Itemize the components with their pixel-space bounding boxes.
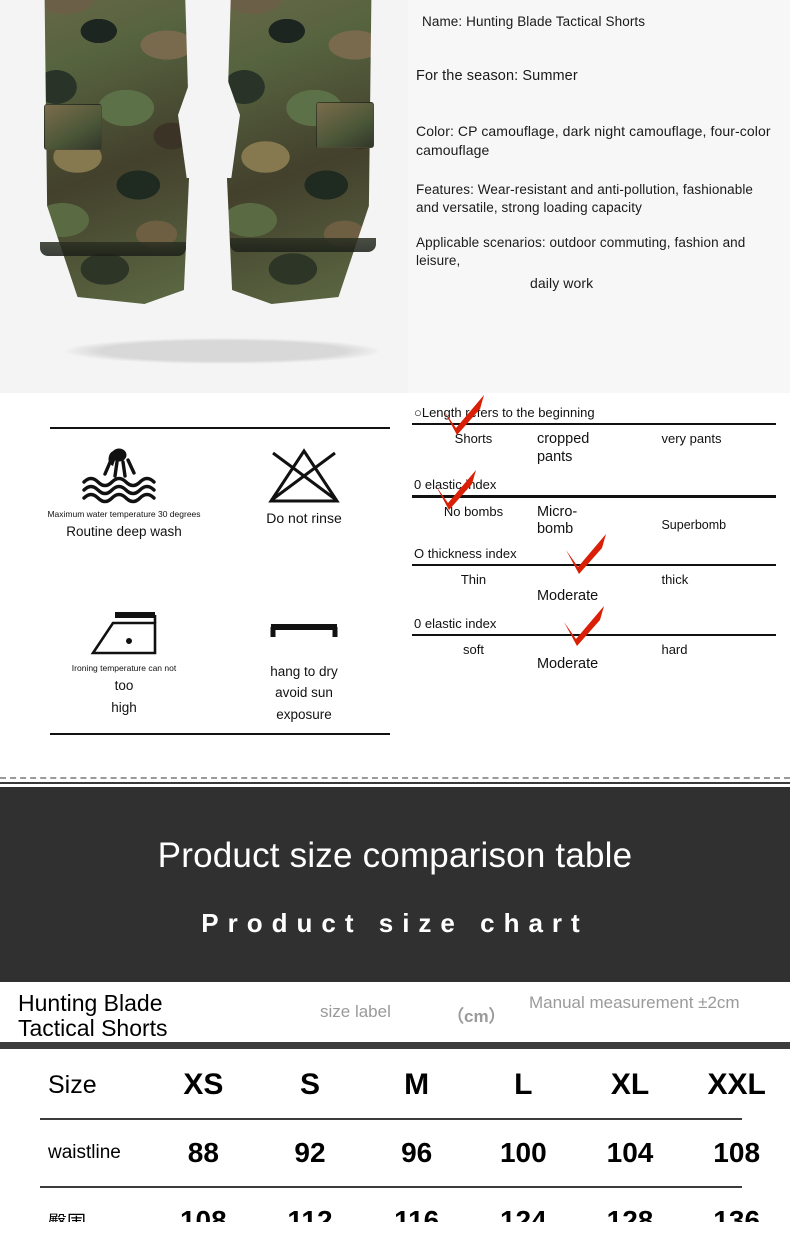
iron-low-heat-icon — [34, 597, 214, 659]
waistline-xl: 104 — [577, 1137, 684, 1169]
attributes-panel: ○Length refers to the beginning Shorts c… — [408, 393, 790, 775]
care-sub-iron: Ironing temperature can not — [34, 663, 214, 673]
manual-measurement-note: Manual measurement ±2cm — [529, 994, 790, 1013]
care-sub-wash: Maximum water temperature 30 degrees — [34, 509, 214, 519]
care-main-dry-3: exposure — [214, 707, 394, 723]
hip-l: 124 — [470, 1205, 577, 1222]
hand-wash-icon — [34, 443, 214, 505]
attr-row-length: Shorts cropped pants very pants — [412, 425, 776, 469]
size-header-l: L — [470, 1068, 577, 1102]
attr-option-hard[interactable]: hard — [655, 642, 776, 658]
shorts-left-leg — [38, 0, 190, 304]
attr-option-superbomb[interactable]: Superbomb — [655, 518, 719, 533]
attr-row-thickness: Thin Moderate thick — [412, 566, 776, 610]
size-table-row-hip-clipped: 臀围 108 112 116 124 128 136 — [0, 1188, 790, 1222]
hip-s: 112 — [257, 1205, 364, 1222]
size-header-s: S — [257, 1068, 364, 1102]
row-label-hip: 臀围 — [0, 1208, 150, 1223]
desc-daily-work: daily work — [530, 274, 774, 293]
banner-title: Product size comparison table — [158, 836, 633, 876]
product-description-panel: Name: Hunting Blade Tactical Shorts For … — [408, 0, 790, 393]
hang-to-dry-icon — [214, 597, 394, 659]
attr-heading-elastic-1: 0 elastic index — [414, 477, 776, 493]
care-item-wash: Maximum water temperature 30 degrees Rou… — [34, 437, 214, 591]
attr-option-soft[interactable]: soft — [412, 642, 535, 658]
care-main-no-rinse: Do not rinse — [214, 510, 394, 527]
care-main-iron-2: high — [34, 700, 214, 716]
waistline-l: 100 — [470, 1137, 577, 1169]
desc-name: Name: Hunting Blade Tactical Shorts — [422, 13, 774, 31]
attr-option-moderate-softness[interactable]: Moderate — [535, 656, 597, 673]
attr-heading-thickness: O thickness index — [414, 546, 776, 562]
care-main-dry-2: avoid sun — [214, 685, 394, 701]
care-and-attributes-section: Maximum water temperature 30 degrees Rou… — [0, 393, 790, 775]
size-table-row-waistline: waistline 88 92 96 100 104 108 — [0, 1120, 790, 1186]
shorts-right-leg — [226, 0, 378, 304]
attr-option-cropped-pants[interactable]: cropped pants — [535, 431, 613, 466]
size-table-row-hip: 臀围 108 112 116 124 128 136 — [0, 1188, 790, 1222]
care-main-wash: Routine deep wash — [34, 524, 214, 540]
waistline-s: 92 — [257, 1137, 364, 1169]
hip-xs: 108 — [150, 1205, 257, 1222]
size-chart-title: Hunting Blade Tactical Shorts — [18, 991, 168, 1041]
care-main-dry-1: hang to dry — [214, 664, 394, 680]
unit-text: （cm） — [447, 1002, 506, 1027]
hip-m: 116 — [363, 1205, 470, 1222]
desc-season: For the season: Summer — [416, 67, 774, 86]
attr-option-thin[interactable]: Thin — [412, 572, 535, 588]
desc-scenarios: Applicable scenarios: outdoor commuting,… — [416, 234, 774, 270]
hip-xl: 128 — [577, 1205, 684, 1222]
product-hero-section: Name: Hunting Blade Tactical Shorts For … — [0, 0, 790, 393]
attr-option-shorts[interactable]: Shorts — [412, 431, 535, 447]
attr-option-moderate-thickness[interactable]: Moderate — [535, 588, 595, 605]
attr-option-very-pants[interactable]: very pants — [655, 431, 776, 447]
size-table-header-row: Size XS S M L XL XXL — [0, 1052, 790, 1118]
attr-heading-elastic-2: 0 elastic index — [414, 616, 776, 632]
cargo-pocket-left — [44, 104, 102, 150]
desc-features: Features: Wear-resistant and anti-pollut… — [416, 181, 774, 217]
attr-option-no-bombs[interactable]: No bombs — [412, 504, 535, 520]
dashed-line — [0, 777, 790, 779]
shorts-cuff-left — [40, 242, 186, 256]
attr-row-elastic: No bombs Micro-bomb Superbomb — [412, 498, 776, 542]
size-chart-section: Hunting Blade Tactical Shorts size label… — [0, 982, 790, 1249]
size-chart-title-line2: Tactical Shorts — [18, 1015, 168, 1041]
size-header-xxl: XXL — [683, 1068, 790, 1102]
care-instructions-panel: Maximum water temperature 30 degrees Rou… — [0, 393, 408, 775]
care-item-hang-dry: hang to dry avoid sun exposure — [214, 591, 394, 745]
waistline-xs: 88 — [150, 1137, 257, 1169]
camouflage-shorts-image — [38, 0, 378, 314]
care-main-iron-1: too — [34, 678, 214, 694]
row-label-waistline: waistline — [0, 1142, 150, 1164]
section-separator — [0, 775, 790, 787]
size-chart-title-line1: Hunting Blade — [18, 990, 163, 1016]
banner-subtitle: Product size chart — [201, 908, 588, 939]
size-label-text: size label — [320, 1002, 391, 1022]
care-item-iron: Ironing temperature can not too high — [34, 591, 214, 745]
size-chart-banner: Product size comparison table Product si… — [0, 787, 790, 982]
desc-color: Color: CP camouflage, dark night camoufl… — [416, 122, 774, 159]
product-shadow — [65, 338, 380, 364]
do-not-bleach-icon — [214, 443, 394, 505]
attr-option-thick[interactable]: thick — [655, 572, 776, 588]
cargo-pocket-right — [316, 102, 374, 148]
attr-heading-length: ○Length refers to the beginning — [414, 405, 776, 421]
size-header-xs: XS — [150, 1068, 257, 1102]
solid-line — [0, 782, 790, 784]
waistline-xxl: 108 — [683, 1137, 790, 1169]
size-header-label: Size — [0, 1071, 150, 1100]
size-header-xl: XL — [577, 1068, 684, 1102]
hip-xxl: 136 — [683, 1205, 790, 1222]
size-chart-header-bar — [0, 1042, 790, 1049]
care-rule-top — [50, 427, 390, 429]
product-photo[interactable] — [0, 0, 408, 393]
care-item-no-rinse: Do not rinse — [214, 437, 394, 591]
size-table: Size XS S M L XL XXL waistline 88 92 96 … — [0, 1052, 790, 1222]
attr-option-micro-bomb[interactable]: Micro-bomb — [535, 504, 599, 539]
shorts-cuff-right — [230, 238, 376, 252]
size-header-m: M — [363, 1068, 470, 1102]
attr-row-softness: soft Moderate hard — [412, 636, 776, 680]
waistline-m: 96 — [363, 1137, 470, 1169]
